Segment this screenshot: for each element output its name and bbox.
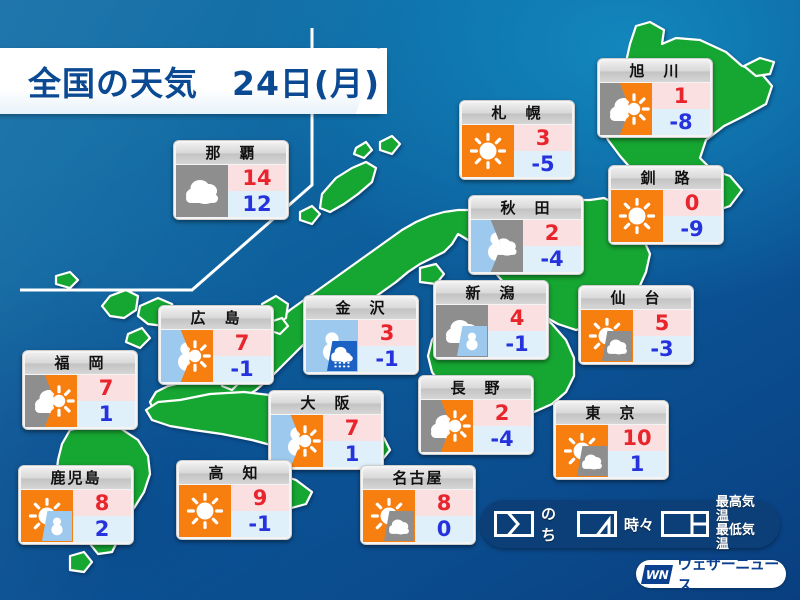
weather-box-body: 71 [271, 415, 381, 467]
high-temp-kagoshima: 8 [73, 490, 131, 516]
weather-box-body: 1412 [176, 165, 286, 217]
weather-box-kagoshima[interactable]: 鹿児島 82 [18, 465, 134, 545]
low-temp-akita: -4 [523, 246, 581, 272]
low-temp-sapporo: -5 [514, 151, 572, 177]
weather-box-body: 3-5 [462, 125, 572, 177]
low-temp-kanazawa: -1 [358, 346, 416, 372]
low-temp-hiroshima: -1 [213, 356, 271, 382]
weather-box-tokyo[interactable]: 東 京 101 [553, 400, 669, 480]
temperature-cell: 4-1 [488, 305, 546, 357]
weather-box-body: 2-4 [421, 400, 531, 452]
low-temp-nagano: -4 [473, 426, 531, 452]
temperature-cell: 1-8 [652, 83, 710, 135]
weather-icon-snow-nochi-cloudy [471, 220, 523, 272]
high-temp-asahikawa: 1 [652, 83, 710, 109]
low-temp-niigata: -1 [488, 331, 546, 357]
low-temp-sendai: -3 [633, 336, 691, 362]
weather-box-body: 82 [21, 490, 131, 542]
high-temp-hiroshima: 7 [213, 330, 271, 356]
weather-box-body: 9-1 [179, 485, 289, 537]
high-temp-nagano: 2 [473, 400, 531, 426]
high-temp-niigata: 4 [488, 305, 546, 331]
weather-box-akita[interactable]: 秋 田 2-4 [468, 195, 584, 275]
city-name-sendai: 仙 台 [581, 288, 691, 309]
low-temp-tokyo: 1 [608, 451, 666, 477]
legend-then-label: のち [541, 503, 570, 545]
weather-box-kushiro[interactable]: 釧 路0-9 [608, 165, 724, 245]
temperature-cell: 2-4 [473, 400, 531, 452]
temperature-cell: 82 [73, 490, 131, 542]
weather-icon-cloudy-nochi-sunny [600, 83, 652, 135]
low-temp-asahikawa: -8 [652, 109, 710, 135]
low-temp-kochi: -1 [231, 511, 289, 537]
city-name-niigata: 新 潟 [436, 283, 546, 304]
high-temp-naha: 14 [228, 165, 286, 191]
temperature-symbol-icon [661, 511, 709, 537]
weather-box-sapporo[interactable]: 札 幌3-5 [459, 100, 575, 180]
weather-icon-sunny-tokidoki-snow [21, 490, 73, 542]
weather-box-fukuoka[interactable]: 福 岡 71 [22, 350, 138, 430]
sometimes-symbol-icon [577, 511, 617, 537]
legend: のち 時々 最高気温 最低気温 [480, 500, 780, 548]
temperature-cell: 3-5 [514, 125, 572, 177]
weather-box-naha[interactable]: 那 覇 1412 [173, 140, 289, 220]
city-name-kagoshima: 鹿児島 [21, 468, 131, 489]
city-name-sapporo: 札 幌 [462, 103, 572, 124]
weather-box-nagoya[interactable]: 名古屋 80 [360, 465, 476, 545]
weather-box-kochi[interactable]: 高 知9-1 [176, 460, 292, 540]
city-name-naha: 那 覇 [176, 143, 286, 164]
weather-box-body: 3-1 [306, 320, 416, 372]
page-title: 全国の天気 24日(月) [28, 50, 408, 112]
weather-box-body: 80 [363, 490, 473, 542]
brand-logo[interactable]: WN ウェザーニュース [636, 560, 786, 588]
weather-box-body: 71 [25, 375, 135, 427]
weather-icon-cloudy-tokidoki-snow [436, 305, 488, 357]
weather-icon-sunny-tokidoki-cloudy [581, 310, 633, 362]
high-temp-kushiro: 0 [663, 190, 721, 216]
temperature-cell: 3-1 [358, 320, 416, 372]
low-temp-kagoshima: 2 [73, 516, 131, 542]
weather-box-body: 5-3 [581, 310, 691, 362]
low-temp-osaka: 1 [323, 441, 381, 467]
wn-mark-icon: WN [641, 565, 673, 584]
city-name-akita: 秋 田 [471, 198, 581, 219]
weather-map-screen: 全国の天気 24日(月) 旭 川 1-8札 幌3-5釧 路0-9秋 田 2-4新… [0, 0, 800, 600]
high-temp-kanazawa: 3 [358, 320, 416, 346]
city-name-nagano: 長 野 [421, 378, 531, 399]
temperature-cell: 1412 [228, 165, 286, 217]
legend-temp-labels: 最高気温 最低気温 [716, 496, 766, 552]
icon-base-sunny [462, 125, 514, 177]
high-temp-sapporo: 3 [514, 125, 572, 151]
temperature-cell: 2-4 [523, 220, 581, 272]
temperature-cell: 80 [415, 490, 473, 542]
high-temp-fukuoka: 7 [77, 375, 135, 401]
high-temp-osaka: 7 [323, 415, 381, 441]
weather-box-kanazawa[interactable]: 金 沢 3-1 [303, 295, 419, 375]
temperature-cell: 0-9 [663, 190, 721, 242]
weather-icon-sunny [611, 190, 663, 242]
temperature-cell: 71 [323, 415, 381, 467]
temperature-cell: 101 [608, 425, 666, 477]
weather-box-asahikawa[interactable]: 旭 川 1-8 [597, 58, 713, 138]
high-temp-kochi: 9 [231, 485, 289, 511]
city-name-fukuoka: 福 岡 [25, 353, 135, 374]
city-name-kushiro: 釧 路 [611, 168, 721, 189]
weather-box-osaka[interactable]: 大 阪 71 [268, 390, 384, 470]
city-name-osaka: 大 阪 [271, 393, 381, 414]
weather-box-niigata[interactable]: 新 潟 4-1 [433, 280, 549, 360]
high-temp-akita: 2 [523, 220, 581, 246]
legend-max-temp-label: 最高気温 [716, 496, 766, 524]
legend-sometimes-label: 時々 [624, 514, 654, 535]
brand-name: ウェザーニュース [677, 553, 786, 595]
weather-box-body: 4-1 [436, 305, 546, 357]
city-name-tokyo: 東 京 [556, 403, 666, 424]
weather-box-body: 0-9 [611, 190, 721, 242]
weather-icon-sunny-tokidoki-cloudy [363, 490, 415, 542]
city-name-nagoya: 名古屋 [363, 468, 473, 489]
weather-icon-sunny [462, 125, 514, 177]
city-name-hiroshima: 広 島 [161, 308, 271, 329]
weather-icon-cloudy-nochi-sunny [25, 375, 77, 427]
high-temp-tokyo: 10 [608, 425, 666, 451]
city-name-asahikawa: 旭 川 [600, 61, 710, 82]
weather-icon-snow-nochi-sunny [161, 330, 213, 382]
city-name-kanazawa: 金 沢 [306, 298, 416, 319]
city-name-kochi: 高 知 [179, 463, 289, 484]
weather-icon-snow-tokidoki-rain [306, 320, 358, 372]
high-temp-nagoya: 8 [415, 490, 473, 516]
icon-base-sunny [179, 485, 231, 537]
weather-icon-sunny-tokidoki-cloudy [556, 425, 608, 477]
temperature-cell: 5-3 [633, 310, 691, 362]
weather-box-hiroshima[interactable]: 広 島 7-1 [158, 305, 274, 385]
weather-box-body: 7-1 [161, 330, 271, 382]
weather-icon-cloudy [176, 165, 228, 217]
weather-icon-sunny [179, 485, 231, 537]
icon-base-sunny [611, 190, 663, 242]
low-temp-nagoya: 0 [415, 516, 473, 542]
high-temp-sendai: 5 [633, 310, 691, 336]
weather-box-nagano[interactable]: 長 野 2-4 [418, 375, 534, 455]
weather-box-body: 1-8 [600, 83, 710, 135]
weather-box-sendai[interactable]: 仙 台 5-3 [578, 285, 694, 365]
low-temp-fukuoka: 1 [77, 401, 135, 427]
then-symbol-icon [494, 511, 534, 537]
temperature-cell: 71 [77, 375, 135, 427]
temperature-cell: 7-1 [213, 330, 271, 382]
weather-icon-cloudy-nochi-sunny [421, 400, 473, 452]
low-temp-kushiro: -9 [663, 216, 721, 242]
weather-box-body: 2-4 [471, 220, 581, 272]
weather-box-body: 101 [556, 425, 666, 477]
temperature-cell: 9-1 [231, 485, 289, 537]
low-temp-naha: 12 [228, 191, 286, 217]
legend-min-temp-label: 最低気温 [716, 524, 766, 552]
icon-base-cloudy [176, 165, 228, 217]
